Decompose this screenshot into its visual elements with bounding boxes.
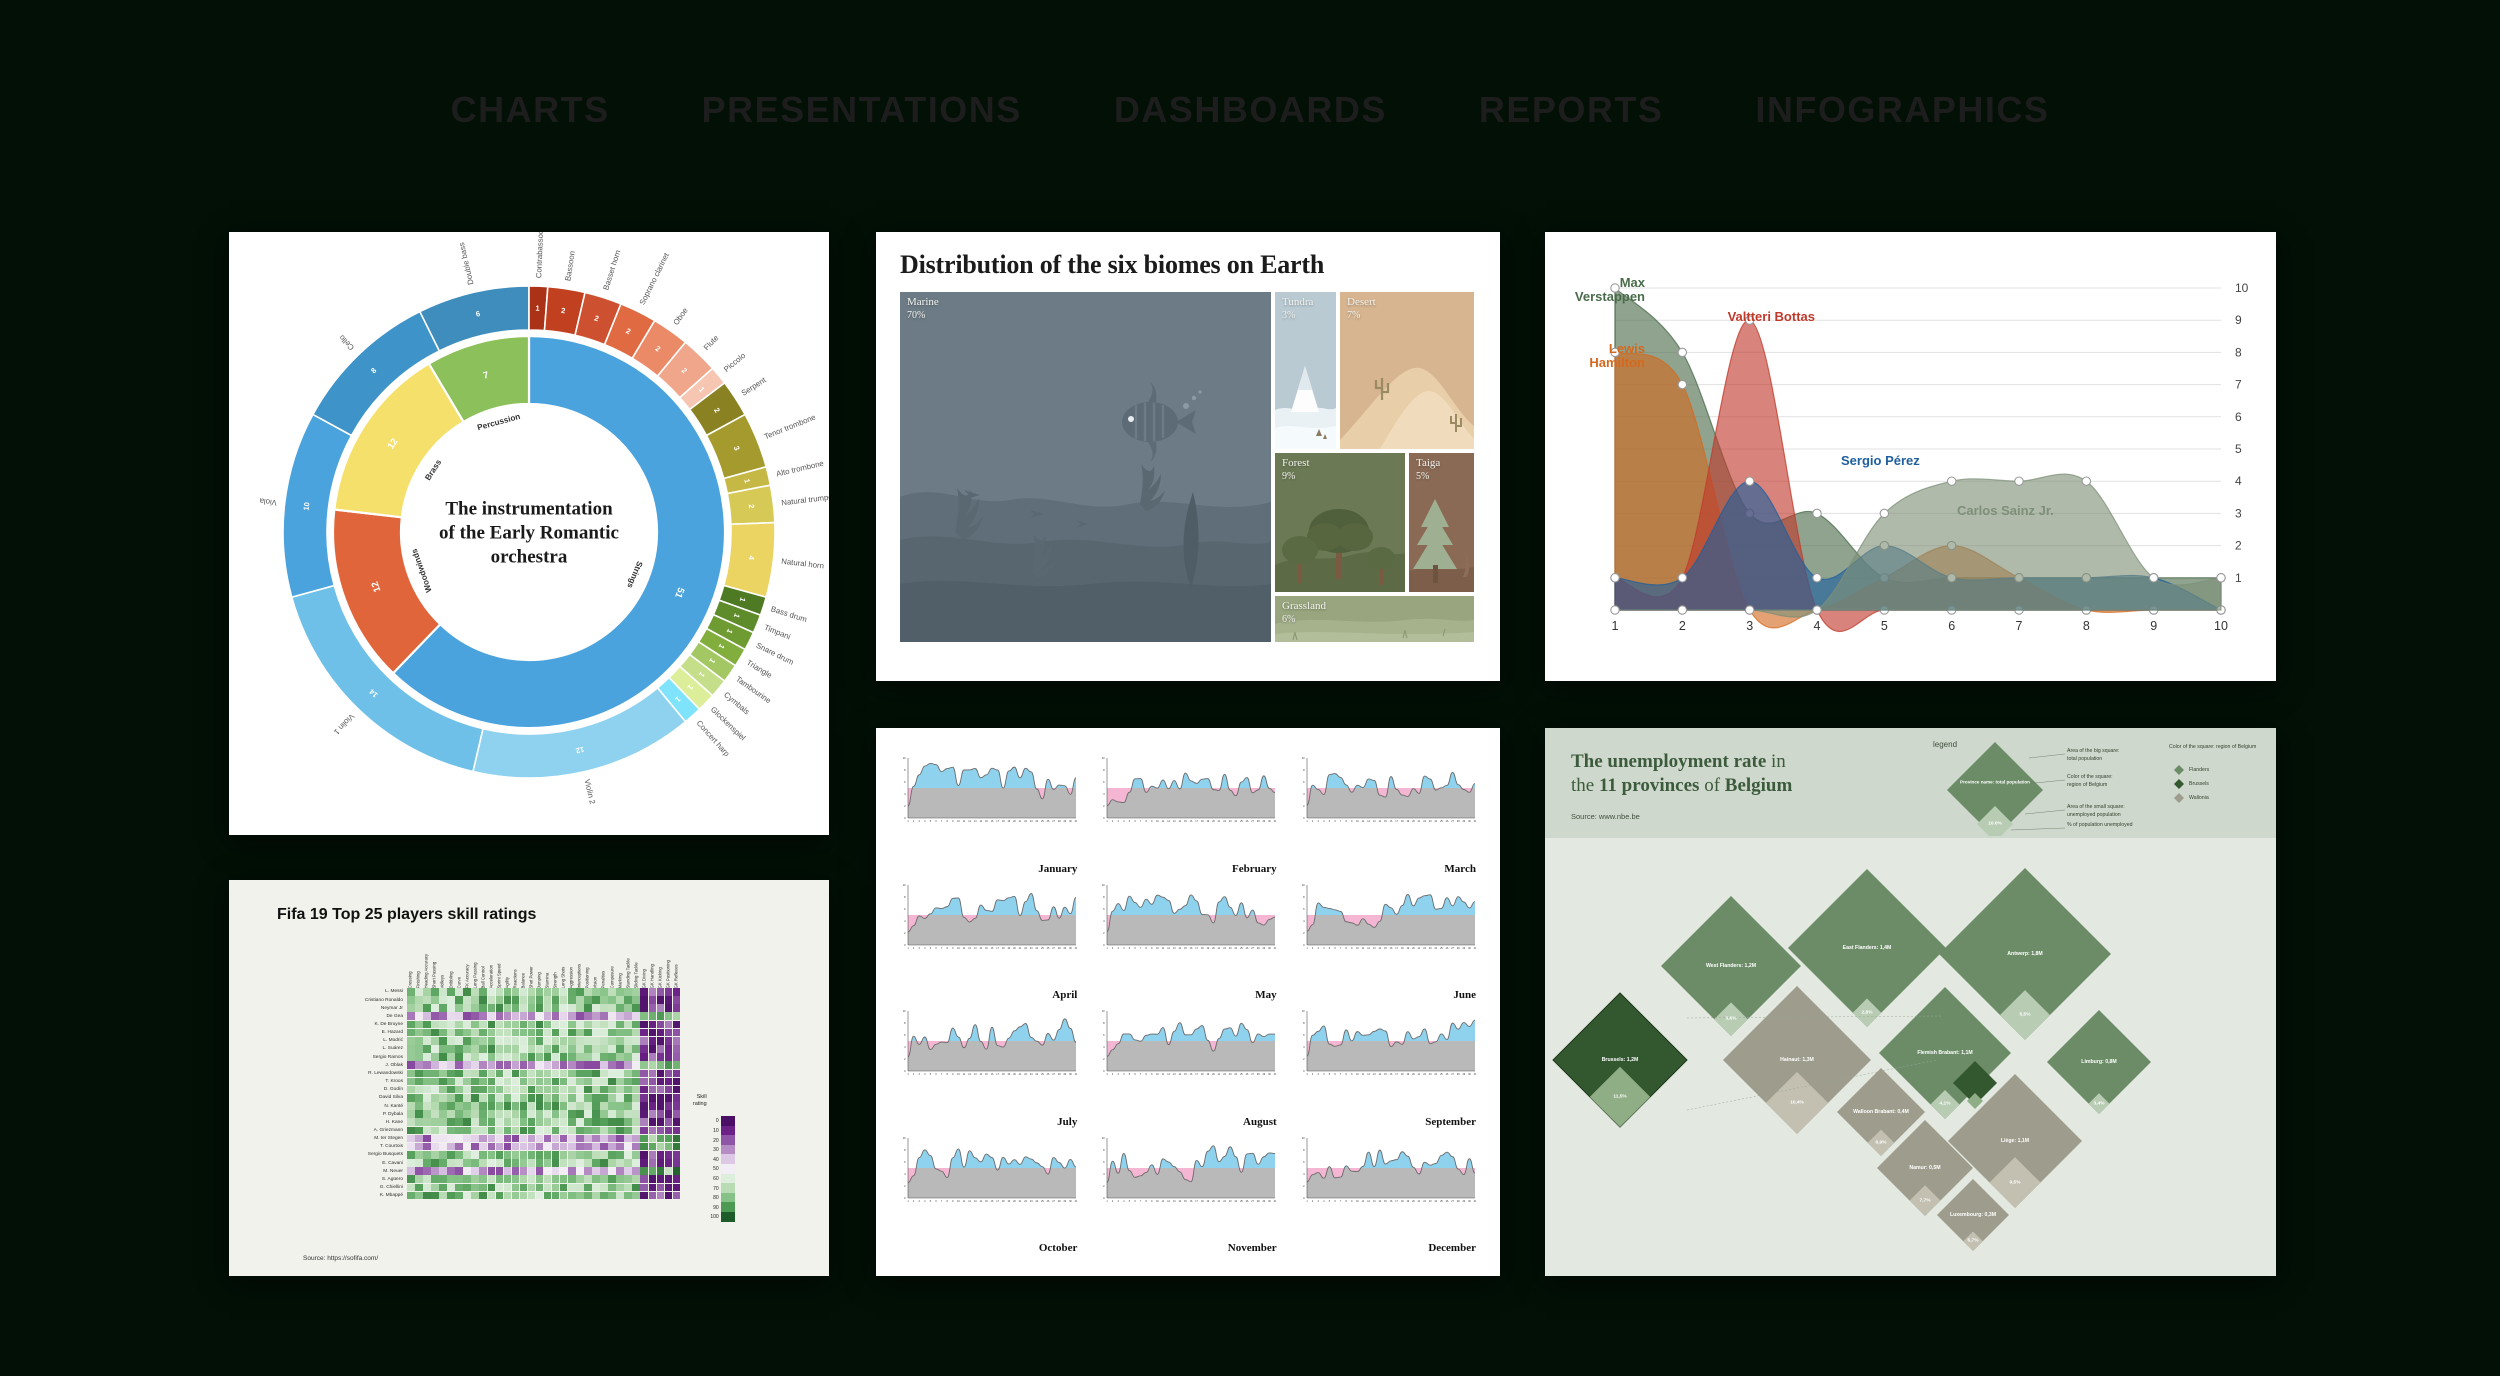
heatmap-cell[interactable] (528, 988, 536, 996)
heatmap-cell[interactable] (439, 988, 447, 996)
heatmap-cell[interactable] (649, 1029, 657, 1037)
heatmap-cell[interactable] (584, 1151, 592, 1159)
heatmap-cell[interactable] (512, 1045, 520, 1053)
heatmap-cell[interactable] (657, 988, 665, 996)
heatmap-cell[interactable] (496, 1184, 504, 1192)
heatmap-cell[interactable] (665, 1094, 673, 1102)
heatmap-cell[interactable] (665, 996, 673, 1004)
heatmap-cell[interactable] (455, 1029, 463, 1037)
heatmap-cell[interactable] (479, 1070, 487, 1078)
heatmap-cell[interactable] (488, 1118, 496, 1126)
heatmap-cell[interactable] (624, 1102, 632, 1110)
heatmap-cell[interactable] (455, 1061, 463, 1069)
heatmap-cell[interactable] (657, 1094, 665, 1102)
heatmap-cell[interactable] (632, 988, 640, 996)
heatmap-cell[interactable] (640, 1118, 648, 1126)
heatmap-cell[interactable] (616, 1102, 624, 1110)
heatmap-cell[interactable] (544, 1070, 552, 1078)
heatmap-cell[interactable] (471, 1151, 479, 1159)
heatmap-cell[interactable] (463, 1135, 471, 1143)
heatmap-cell[interactable] (479, 1004, 487, 1012)
heatmap-cell[interactable] (640, 996, 648, 1004)
heatmap-cell[interactable] (496, 1110, 504, 1118)
heatmap-cell[interactable] (552, 1135, 560, 1143)
heatmap-cell[interactable] (431, 1086, 439, 1094)
card-f1-area-chart[interactable]: 1234567891012345678910 Max VerstappenLew… (1545, 232, 2276, 681)
heatmap-cell[interactable] (496, 996, 504, 1004)
heatmap-cell[interactable] (463, 1102, 471, 1110)
heatmap-cell[interactable] (463, 1086, 471, 1094)
heatmap-cell[interactable] (632, 1021, 640, 1029)
heatmap-cell[interactable] (560, 1151, 568, 1159)
heatmap-cell[interactable] (407, 1004, 415, 1012)
tile-grassland[interactable]: Grassland 6% (1275, 596, 1474, 642)
heatmap-cell[interactable] (423, 1037, 431, 1045)
heatmap-cell[interactable] (504, 1127, 512, 1135)
heatmap-cell[interactable] (447, 1143, 455, 1151)
heatmap-cell[interactable] (504, 1037, 512, 1045)
heatmap-cell[interactable] (447, 1110, 455, 1118)
heatmap-cell[interactable] (455, 1021, 463, 1029)
heatmap-cell[interactable] (496, 1037, 504, 1045)
heatmap-cell[interactable] (504, 1012, 512, 1020)
heatmap-cell[interactable] (657, 1184, 665, 1192)
card-fifa-heatmap[interactable]: Fifa 19 Top 25 players skill ratings Cro… (229, 880, 829, 1276)
nav-infographics[interactable]: INFOGRAPHICS (1755, 89, 2049, 131)
heatmap-cell[interactable] (447, 1053, 455, 1061)
heatmap-cell[interactable] (552, 1094, 560, 1102)
heatmap-cell[interactable] (439, 1167, 447, 1175)
heatmap-cell[interactable] (649, 1110, 657, 1118)
heatmap-cell[interactable] (504, 1021, 512, 1029)
heatmap-cell[interactable] (649, 1004, 657, 1012)
heatmap-cell[interactable] (488, 1061, 496, 1069)
heatmap-cell[interactable] (624, 1167, 632, 1175)
heatmap-cell[interactable] (528, 1151, 536, 1159)
heatmap-cell[interactable] (479, 1135, 487, 1143)
heatmap-cell[interactable] (576, 996, 584, 1004)
heatmap-cell[interactable] (624, 1192, 632, 1200)
heatmap-cell[interactable] (471, 1053, 479, 1061)
heatmap-cell[interactable] (552, 1151, 560, 1159)
heatmap-cell[interactable] (649, 1086, 657, 1094)
heatmap-cell[interactable] (447, 1127, 455, 1135)
heatmap-cell[interactable] (632, 1086, 640, 1094)
heatmap-cell[interactable] (608, 1127, 616, 1135)
heatmap-cell[interactable] (447, 1159, 455, 1167)
heatmap-cell[interactable] (528, 1192, 536, 1200)
heatmap-cell[interactable] (431, 1102, 439, 1110)
heatmap-cell[interactable] (463, 988, 471, 996)
heatmap-cell[interactable] (471, 1192, 479, 1200)
heatmap-cell[interactable] (665, 988, 673, 996)
heatmap-cell[interactable] (536, 1029, 544, 1037)
heatmap-cell[interactable] (463, 1021, 471, 1029)
heatmap-cell[interactable] (431, 1159, 439, 1167)
heatmap-cell[interactable] (488, 1021, 496, 1029)
heatmap-cell[interactable] (415, 1184, 423, 1192)
heatmap-cell[interactable] (471, 1061, 479, 1069)
heatmap-cell[interactable] (423, 1070, 431, 1078)
heatmap-cell[interactable] (496, 1061, 504, 1069)
heatmap-cell[interactable] (632, 1012, 640, 1020)
heatmap-cell[interactable] (423, 1086, 431, 1094)
heatmap-cell[interactable] (512, 1021, 520, 1029)
heatmap-cell[interactable] (455, 1004, 463, 1012)
heatmap-cell[interactable] (544, 1118, 552, 1126)
heatmap-cell[interactable] (608, 1061, 616, 1069)
heatmap-cell[interactable] (560, 1053, 568, 1061)
heatmap-cell[interactable] (592, 1102, 600, 1110)
heatmap-cell[interactable] (616, 1037, 624, 1045)
heatmap-cell[interactable] (544, 1021, 552, 1029)
heatmap-cell[interactable] (592, 1094, 600, 1102)
heatmap-cell[interactable] (632, 1110, 640, 1118)
heatmap-cell[interactable] (640, 1110, 648, 1118)
heatmap-cell[interactable] (592, 1004, 600, 1012)
heatmap-cell[interactable] (552, 1045, 560, 1053)
heatmap-cell[interactable] (504, 1110, 512, 1118)
heatmap-cell[interactable] (488, 1070, 496, 1078)
heatmap-cell[interactable] (608, 1159, 616, 1167)
heatmap-cell[interactable] (576, 1110, 584, 1118)
heatmap-cell[interactable] (568, 1078, 576, 1086)
heatmap-cell[interactable] (568, 1159, 576, 1167)
heatmap-cell[interactable] (447, 1045, 455, 1053)
heatmap-cell[interactable] (632, 1167, 640, 1175)
heatmap-cell[interactable] (471, 1021, 479, 1029)
heatmap-cell[interactable] (649, 1061, 657, 1069)
heatmap-cell[interactable] (479, 1012, 487, 1020)
heatmap-cell[interactable] (657, 1151, 665, 1159)
heatmap-cell[interactable] (488, 1159, 496, 1167)
heatmap-cell[interactable] (657, 1037, 665, 1045)
heatmap-cell[interactable] (455, 1192, 463, 1200)
heatmap-cell[interactable] (496, 1012, 504, 1020)
heatmap-cell[interactable] (584, 1070, 592, 1078)
heatmap-cell[interactable] (608, 1094, 616, 1102)
heatmap-cell[interactable] (536, 1021, 544, 1029)
heatmap-cell[interactable] (552, 1102, 560, 1110)
heatmap-cell[interactable] (624, 1184, 632, 1192)
heatmap-cell[interactable] (608, 1037, 616, 1045)
sunburst-outer-natural-horn[interactable] (724, 523, 775, 598)
heatmap-cell[interactable] (520, 1070, 528, 1078)
heatmap-cell[interactable] (544, 1102, 552, 1110)
heatmap-cell[interactable] (471, 1045, 479, 1053)
heatmap-cell[interactable] (455, 1151, 463, 1159)
heatmap-cell[interactable] (616, 1021, 624, 1029)
heatmap-cell[interactable] (512, 1159, 520, 1167)
heatmap-cell[interactable] (407, 996, 415, 1004)
heatmap-cell[interactable] (600, 996, 608, 1004)
heatmap-cell[interactable] (576, 1004, 584, 1012)
heatmap-cell[interactable] (447, 1086, 455, 1094)
heatmap-cell[interactable] (608, 1021, 616, 1029)
heatmap-cell[interactable] (640, 1135, 648, 1143)
heatmap-cell[interactable] (649, 1143, 657, 1151)
heatmap-cell[interactable] (512, 1102, 520, 1110)
heatmap-cell[interactable] (439, 1053, 447, 1061)
heatmap-cell[interactable] (512, 1110, 520, 1118)
heatmap-cell[interactable] (600, 1118, 608, 1126)
heatmap-cell[interactable] (600, 1078, 608, 1086)
heatmap-cell[interactable] (552, 1110, 560, 1118)
heatmap-cell[interactable] (496, 1004, 504, 1012)
heatmap-cell[interactable] (568, 1167, 576, 1175)
heatmap-cell[interactable] (512, 1143, 520, 1151)
heatmap-cell[interactable] (608, 1118, 616, 1126)
heatmap-cell[interactable] (600, 1184, 608, 1192)
heatmap-cell[interactable] (544, 1151, 552, 1159)
heatmap-cell[interactable] (479, 1086, 487, 1094)
heatmap-cell[interactable] (463, 1037, 471, 1045)
heatmap-cell[interactable] (479, 1021, 487, 1029)
heatmap-cell[interactable] (616, 1192, 624, 1200)
heatmap-cell[interactable] (415, 1175, 423, 1183)
heatmap-cell[interactable] (415, 1151, 423, 1159)
heatmap-cell[interactable] (560, 1184, 568, 1192)
heatmap-cell[interactable] (632, 1078, 640, 1086)
heatmap-cell[interactable] (552, 1184, 560, 1192)
heatmap-cell[interactable] (520, 1118, 528, 1126)
heatmap-cell[interactable] (608, 1102, 616, 1110)
month-panel[interactable]: 0246810123456789101112131415161718192021… (1295, 881, 1480, 1002)
heatmap-cell[interactable] (415, 1110, 423, 1118)
heatmap-cell[interactable] (632, 1102, 640, 1110)
heatmap-cell[interactable] (520, 1061, 528, 1069)
heatmap-cell[interactable] (568, 1102, 576, 1110)
heatmap-cell[interactable] (536, 1061, 544, 1069)
heatmap-cell[interactable] (592, 996, 600, 1004)
heatmap-cell[interactable] (431, 1012, 439, 1020)
heatmap-cell[interactable] (624, 1053, 632, 1061)
heatmap-cell[interactable] (407, 1053, 415, 1061)
heatmap-cell[interactable] (512, 1053, 520, 1061)
card-belgium-infographic[interactable]: The unemployment rate in the 11 province… (1545, 728, 2276, 1276)
heatmap-cell[interactable] (560, 1135, 568, 1143)
heatmap-cell[interactable] (544, 1167, 552, 1175)
heatmap-cell[interactable] (640, 1094, 648, 1102)
heatmap-cell[interactable] (600, 1029, 608, 1037)
heatmap-cell[interactable] (632, 1070, 640, 1078)
heatmap-cell[interactable] (560, 1012, 568, 1020)
heatmap-cell[interactable] (439, 1094, 447, 1102)
heatmap-cell[interactable] (592, 1110, 600, 1118)
heatmap-cell[interactable] (673, 1053, 681, 1061)
heatmap-cell[interactable] (608, 1029, 616, 1037)
heatmap-cell[interactable] (665, 1192, 673, 1200)
heatmap-cell[interactable] (608, 1053, 616, 1061)
heatmap-cell[interactable] (520, 1094, 528, 1102)
heatmap-cell[interactable] (552, 1021, 560, 1029)
heatmap-cell[interactable] (496, 1053, 504, 1061)
heatmap-cell[interactable] (423, 1159, 431, 1167)
heatmap-cell[interactable] (568, 1012, 576, 1020)
heatmap-cell[interactable] (665, 1061, 673, 1069)
heatmap-cell[interactable] (528, 1053, 536, 1061)
heatmap-cell[interactable] (576, 1118, 584, 1126)
heatmap-cell[interactable] (488, 1192, 496, 1200)
heatmap-cell[interactable] (423, 1012, 431, 1020)
heatmap-cell[interactable] (673, 988, 681, 996)
heatmap-cell[interactable] (455, 1184, 463, 1192)
heatmap-cell[interactable] (455, 1135, 463, 1143)
heatmap-cell[interactable] (431, 1061, 439, 1069)
heatmap-cell[interactable] (536, 1159, 544, 1167)
heatmap-cell[interactable] (608, 1110, 616, 1118)
heatmap-cell[interactable] (657, 1159, 665, 1167)
heatmap-cell[interactable] (560, 1143, 568, 1151)
heatmap-cell[interactable] (536, 1086, 544, 1094)
heatmap-cell[interactable] (649, 1118, 657, 1126)
heatmap-cell[interactable] (512, 1135, 520, 1143)
heatmap-cell[interactable] (576, 1094, 584, 1102)
heatmap-cell[interactable] (423, 1143, 431, 1151)
heatmap-cell[interactable] (439, 1184, 447, 1192)
heatmap-cell[interactable] (616, 1029, 624, 1037)
heatmap-cell[interactable] (488, 1045, 496, 1053)
heatmap-cell[interactable] (455, 1110, 463, 1118)
heatmap-cell[interactable] (488, 1184, 496, 1192)
heatmap-cell[interactable] (479, 1175, 487, 1183)
heatmap-cell[interactable] (632, 1004, 640, 1012)
heatmap-cell[interactable] (520, 988, 528, 996)
heatmap-cell[interactable] (592, 1192, 600, 1200)
heatmap-cell[interactable] (415, 1192, 423, 1200)
heatmap-cell[interactable] (632, 1037, 640, 1045)
heatmap-cell[interactable] (536, 1110, 544, 1118)
heatmap-cell[interactable] (600, 1045, 608, 1053)
heatmap-cell[interactable] (673, 1192, 681, 1200)
heatmap-cell[interactable] (415, 1078, 423, 1086)
heatmap-cell[interactable] (447, 1102, 455, 1110)
heatmap-cell[interactable] (544, 988, 552, 996)
heatmap-cell[interactable] (584, 1029, 592, 1037)
heatmap-cell[interactable] (407, 988, 415, 996)
heatmap-cell[interactable] (624, 1061, 632, 1069)
heatmap-cell[interactable] (624, 1004, 632, 1012)
heatmap-cell[interactable] (528, 1175, 536, 1183)
heatmap-cell[interactable] (576, 1151, 584, 1159)
heatmap-cell[interactable] (504, 1045, 512, 1053)
heatmap-cell[interactable] (423, 1135, 431, 1143)
heatmap-cell[interactable] (512, 1004, 520, 1012)
month-panel[interactable]: 0246810123456789101112131415161718192021… (1295, 754, 1480, 875)
heatmap-cell[interactable] (520, 1029, 528, 1037)
heatmap-cell[interactable] (471, 1175, 479, 1183)
heatmap-cell[interactable] (560, 1175, 568, 1183)
heatmap-cell[interactable] (407, 1159, 415, 1167)
heatmap-cell[interactable] (463, 1127, 471, 1135)
heatmap-cell[interactable] (479, 1045, 487, 1053)
heatmap-cell[interactable] (600, 1135, 608, 1143)
heatmap-cell[interactable] (528, 1110, 536, 1118)
heatmap-cell[interactable] (415, 1094, 423, 1102)
heatmap-cell[interactable] (640, 1159, 648, 1167)
heatmap-cell[interactable] (407, 1045, 415, 1053)
heatmap-cell[interactable] (415, 1135, 423, 1143)
heatmap-cell[interactable] (431, 988, 439, 996)
heatmap-cell[interactable] (415, 1102, 423, 1110)
heatmap-cell[interactable] (608, 1012, 616, 1020)
heatmap-cell[interactable] (407, 1061, 415, 1069)
heatmap-cell[interactable] (616, 1167, 624, 1175)
heatmap-cell[interactable] (479, 1053, 487, 1061)
heatmap-cell[interactable] (544, 996, 552, 1004)
tile-taiga[interactable]: Taiga 5% (1409, 453, 1474, 592)
heatmap-cell[interactable] (592, 1135, 600, 1143)
heatmap-cell[interactable] (447, 1094, 455, 1102)
heatmap-cell[interactable] (600, 988, 608, 996)
heatmap-cell[interactable] (640, 1167, 648, 1175)
heatmap-cell[interactable] (560, 1167, 568, 1175)
heatmap-cell[interactable] (649, 1037, 657, 1045)
heatmap-cell[interactable] (624, 1175, 632, 1183)
heatmap-cell[interactable] (552, 1167, 560, 1175)
heatmap-cell[interactable] (423, 996, 431, 1004)
heatmap-cell[interactable] (471, 988, 479, 996)
heatmap-cell[interactable] (496, 1070, 504, 1078)
heatmap-cell[interactable] (673, 1094, 681, 1102)
heatmap-cell[interactable] (512, 1029, 520, 1037)
heatmap-cell[interactable] (479, 1061, 487, 1069)
heatmap-cell[interactable] (632, 1143, 640, 1151)
month-panel[interactable]: 0246810123456789101112131415161718192021… (896, 1134, 1081, 1255)
heatmap-cell[interactable] (592, 988, 600, 996)
heatmap-cell[interactable] (504, 1118, 512, 1126)
heatmap-cell[interactable] (488, 988, 496, 996)
heatmap-cell[interactable] (496, 1094, 504, 1102)
heatmap-cell[interactable] (592, 1159, 600, 1167)
heatmap-cell[interactable] (496, 1086, 504, 1094)
heatmap-cell[interactable] (520, 1102, 528, 1110)
heatmap-cell[interactable] (616, 1184, 624, 1192)
heatmap-cell[interactable] (496, 1045, 504, 1053)
heatmap-cell[interactable] (479, 996, 487, 1004)
heatmap-cell[interactable] (447, 1118, 455, 1126)
heatmap-cell[interactable] (608, 996, 616, 1004)
heatmap-cell[interactable] (431, 1151, 439, 1159)
heatmap-cell[interactable] (528, 1143, 536, 1151)
month-panel[interactable]: 0246810123456789101112131415161718192021… (1295, 1134, 1480, 1255)
heatmap-cell[interactable] (504, 1086, 512, 1094)
heatmap-cell[interactable] (560, 1192, 568, 1200)
heatmap-cell[interactable] (576, 1102, 584, 1110)
heatmap-cell[interactable] (407, 1078, 415, 1086)
heatmap-cell[interactable] (407, 1175, 415, 1183)
heatmap-cell[interactable] (471, 1127, 479, 1135)
heatmap-cell[interactable] (600, 1102, 608, 1110)
heatmap-cell[interactable] (592, 1143, 600, 1151)
heatmap-cell[interactable] (488, 1143, 496, 1151)
heatmap-cell[interactable] (640, 1053, 648, 1061)
heatmap-cell[interactable] (439, 1045, 447, 1053)
heatmap-cell[interactable] (600, 1192, 608, 1200)
heatmap-cell[interactable] (488, 1175, 496, 1183)
heatmap-cell[interactable] (512, 1037, 520, 1045)
heatmap-cell[interactable] (576, 1127, 584, 1135)
heatmap-cell[interactable] (649, 1127, 657, 1135)
heatmap-cell[interactable] (536, 1167, 544, 1175)
heatmap-cell[interactable] (431, 1110, 439, 1118)
heatmap-cell[interactable] (576, 1037, 584, 1045)
heatmap-cell[interactable] (463, 1159, 471, 1167)
heatmap-cell[interactable] (447, 1175, 455, 1183)
heatmap-cell[interactable] (439, 1118, 447, 1126)
heatmap-cell[interactable] (665, 1029, 673, 1037)
heatmap-cell[interactable] (439, 1061, 447, 1069)
